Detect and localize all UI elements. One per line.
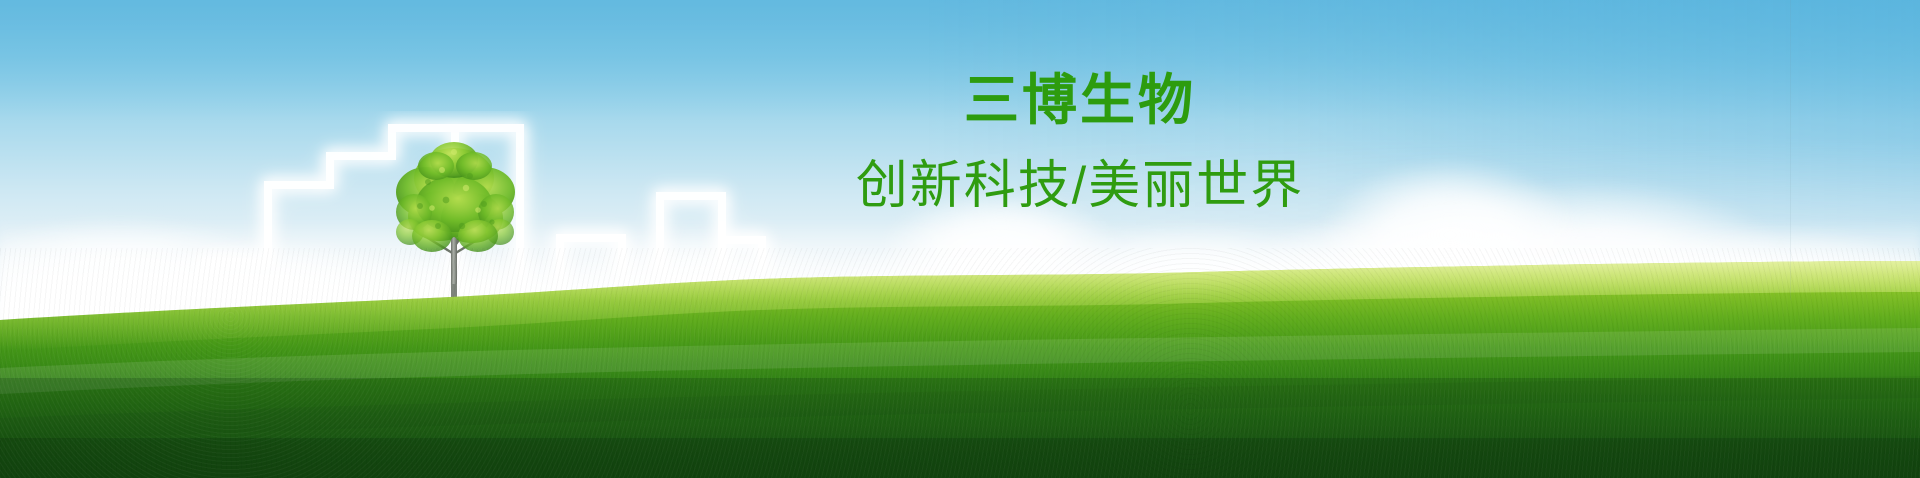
grass-texture (0, 248, 1920, 478)
banner-text-block: 三博生物 创新科技/美丽世界 (700, 72, 1460, 215)
banner-headline: 三博生物 (700, 72, 1460, 130)
grass-field (0, 248, 1920, 478)
image-seam (1790, 0, 1791, 300)
banner-subheadline: 创新科技/美丽世界 (700, 158, 1460, 215)
hero-banner: 三博生物 创新科技/美丽世界 (0, 0, 1920, 478)
